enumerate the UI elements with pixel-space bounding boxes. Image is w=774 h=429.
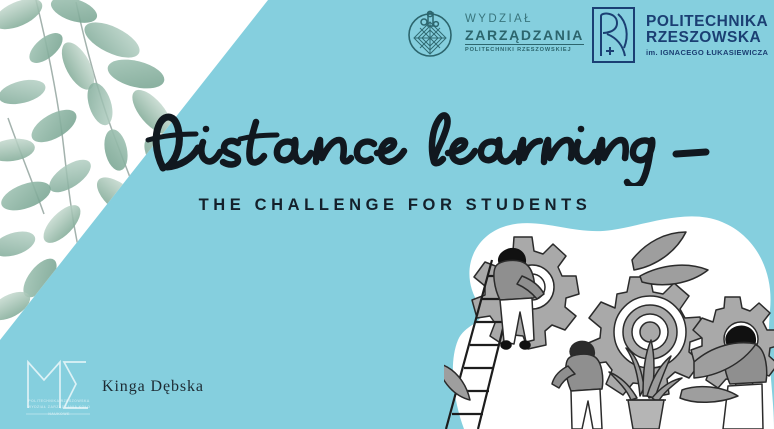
faculty-line2: ZARZĄDZANIA <box>465 28 584 45</box>
gear-small <box>691 297 774 391</box>
circular-woven-emblem-icon <box>404 8 456 60</box>
faculty-line1: WYDZIAŁ <box>465 14 584 26</box>
university-line2: RZESZOWSKA <box>646 30 768 46</box>
gear-large <box>586 277 704 398</box>
slide-canvas: WYDZIAŁ ZARZĄDZANIA POLITECHNIKI RZESZOW… <box>0 0 774 429</box>
prz-monogram-emblem-icon <box>591 6 636 64</box>
header-logos: WYDZIAŁ ZARZĄDZANIA POLITECHNIKI RZESZOW… <box>0 0 774 84</box>
university-logo-text: POLITECHNIKA RZESZOWSKA im. IGNACEGO ŁUK… <box>646 14 768 57</box>
person-right <box>723 326 767 429</box>
page-subtitle: THE CHALLENGE FOR STUDENTS <box>0 196 774 215</box>
ladder <box>446 260 520 429</box>
faculty-logo: WYDZIAŁ ZARZĄDZANIA POLITECHNIKI RZESZOW… <box>404 8 584 60</box>
person-standing <box>552 341 603 429</box>
faculty-logo-text: WYDZIAŁ ZARZĄDZANIA POLITECHNIKI RZESZOW… <box>465 14 584 53</box>
author-name: Kinga Dębska <box>102 378 204 396</box>
university-logo: POLITECHNIKA RZESZOWSKA im. IGNACEGO ŁUK… <box>591 6 768 64</box>
illustration-backdrop-blob <box>444 214 774 429</box>
person-on-ladder <box>494 249 544 349</box>
faculty-line3: POLITECHNIKI RZESZOWSKIEJ <box>465 48 584 54</box>
university-line3: im. IGNACEGO ŁUKASIEWICZA <box>646 49 768 57</box>
ms-monogram-caption: POLITECHNIKA RZESZOWSKA WYDZIAŁ ZARZĄDZA… <box>20 398 98 417</box>
decorative-leaves <box>444 232 756 402</box>
gear-medium <box>472 237 579 349</box>
people-and-gears-illustration <box>444 214 774 429</box>
university-line1: POLITECHNIKA <box>646 14 768 30</box>
potted-plant <box>609 340 682 429</box>
